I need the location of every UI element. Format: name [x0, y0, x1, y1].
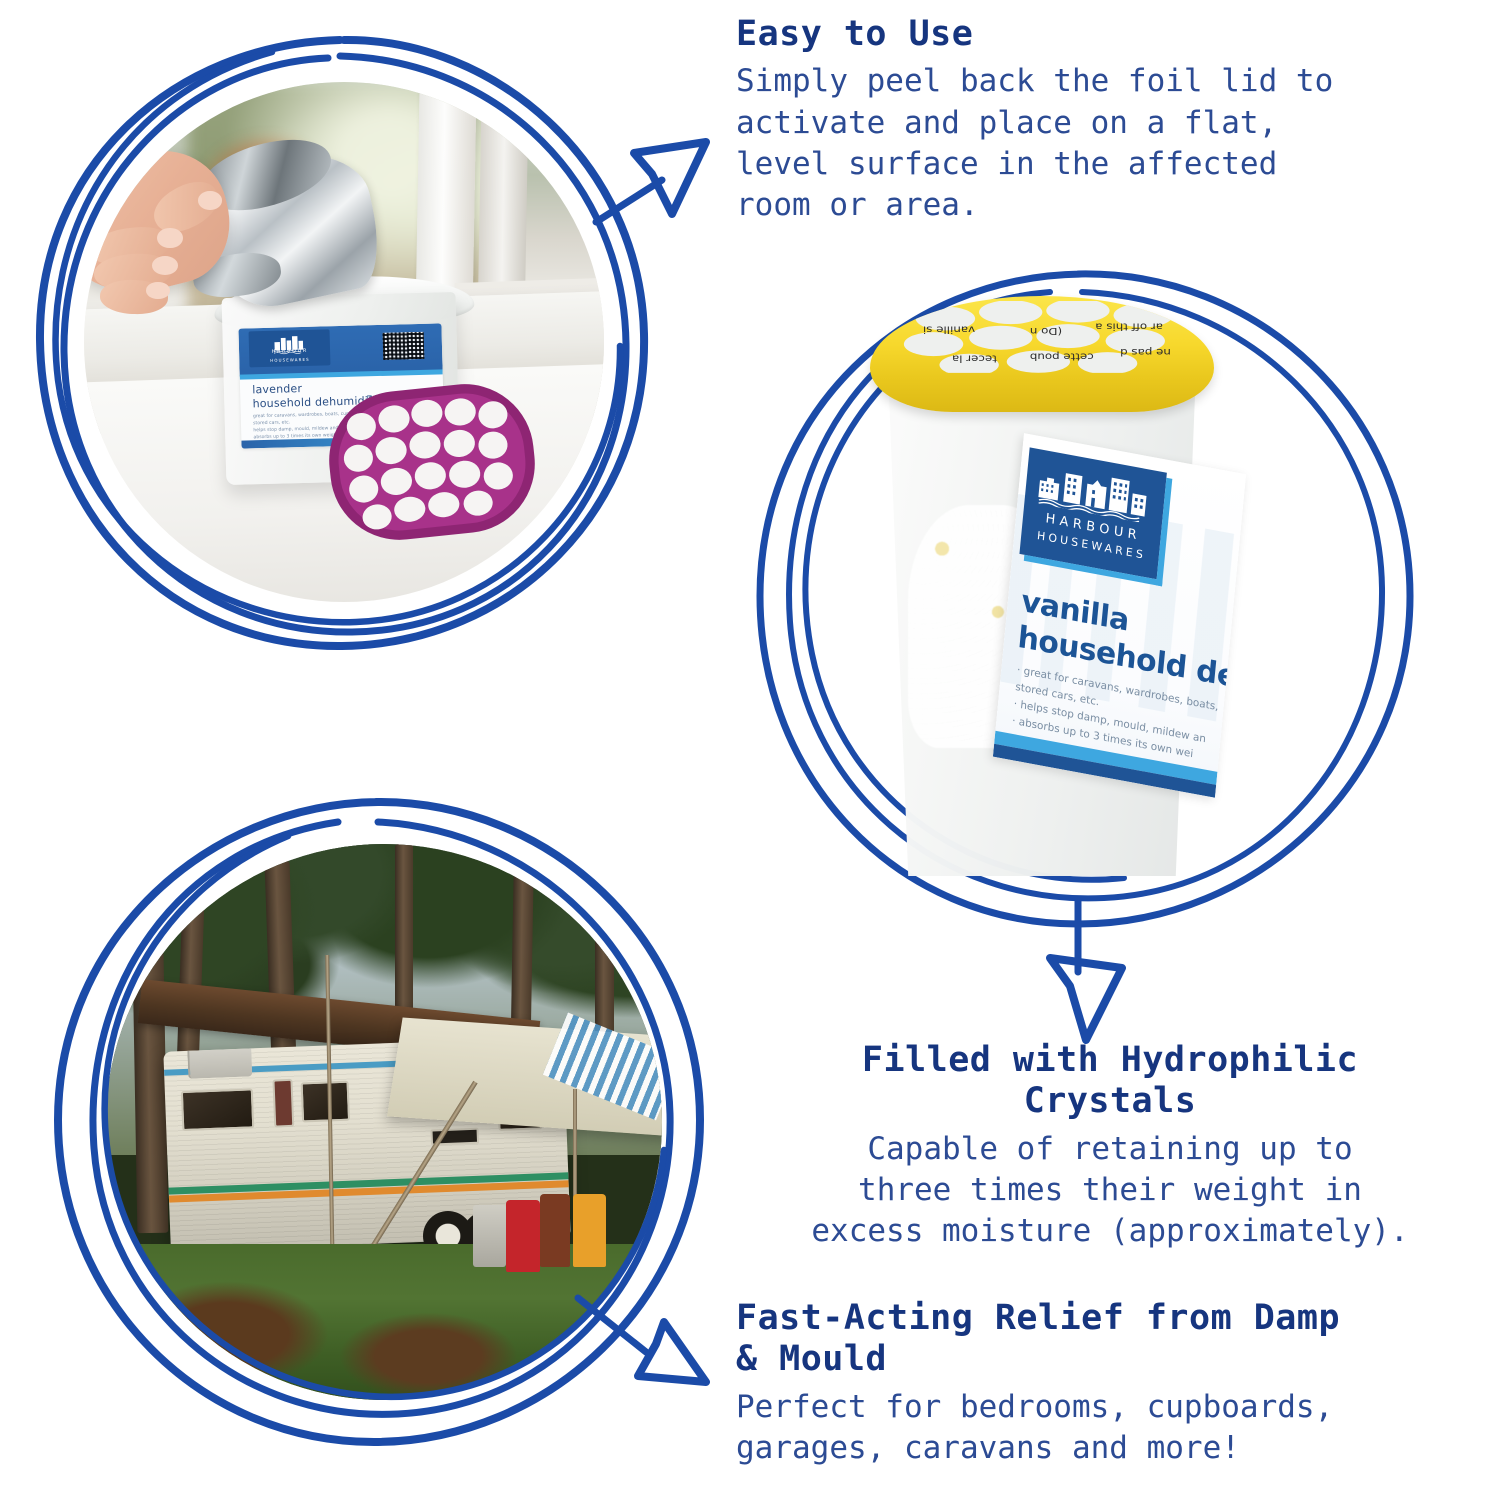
- product-label-vanilla: HARBOUR HOUSEWARES vanilla household deh…: [993, 433, 1246, 798]
- label-brand-line2: HOUSEWARES: [249, 357, 330, 364]
- heading-hydrophilic-crystals: Filled with Hydrophilic Crystals: [730, 1040, 1490, 1123]
- purple-dehumidifier-basket: [321, 373, 544, 550]
- feature-text-hydrophilic-crystals: Filled with Hydrophilic Crystals Capable…: [730, 1040, 1490, 1252]
- photo-circle-peel-foil-lid: HARBOUR HOUSEWARES lavender household de…: [22, 22, 662, 662]
- body-fast-acting-relief: Perfect for bedrooms, cupboards, garages…: [736, 1387, 1486, 1469]
- svg-text:vanille si: vanille si: [923, 324, 975, 336]
- chair-white: [473, 1205, 506, 1266]
- photo-circle-vanilla-tub: ne pas d cette poub tecer la ar off this…: [738, 254, 1428, 944]
- infographic-page: HARBOUR HOUSEWARES lavender household de…: [0, 0, 1500, 1500]
- svg-text:(Do n: (Do n: [1029, 325, 1061, 337]
- chair-brown: [540, 1194, 571, 1266]
- svg-text:tecer la: tecer la: [952, 352, 997, 364]
- chair-red: [506, 1200, 539, 1272]
- lid-vent-holes-icon: ne pas d cette poub tecer la ar off this…: [894, 301, 1191, 373]
- label-product-line1: lavender: [252, 382, 302, 396]
- body-easy-to-use: Simply peel back the foil lid to activat…: [736, 61, 1476, 226]
- svg-text:cette poub: cette poub: [1029, 351, 1093, 363]
- product-vanilla-dehumidifier-tub: ne pas d cette poub tecer la ar off this…: [866, 296, 1218, 876]
- svg-text:ar off this a: ar off this a: [1095, 320, 1163, 332]
- svg-text:ne pas d: ne pas d: [1120, 346, 1171, 358]
- arrow-to-hydrophilic-crystals-icon: [1010, 900, 1150, 1050]
- yellow-lid: ne pas d cette poub tecer la ar off this…: [870, 296, 1215, 412]
- feature-text-fast-acting-relief: Fast-Acting Relief from Damp & Mould Per…: [736, 1298, 1486, 1469]
- heading-easy-to-use: Easy to Use: [736, 14, 1476, 55]
- label-brand-line1: HARBOUR: [249, 348, 330, 356]
- feature-text-easy-to-use: Easy to Use Simply peel back the foil li…: [736, 14, 1476, 226]
- photo-peel-foil-lid: HARBOUR HOUSEWARES lavender household de…: [84, 82, 604, 602]
- body-hydrophilic-crystals: Capable of retaining up to three times t…: [730, 1129, 1490, 1253]
- arrow-to-fast-acting-relief-icon: [576, 1296, 756, 1426]
- chair-orange: [573, 1194, 606, 1266]
- qr-code-icon: [383, 332, 424, 361]
- heading-fast-acting-relief: Fast-Acting Relief from Damp & Mould: [736, 1298, 1486, 1381]
